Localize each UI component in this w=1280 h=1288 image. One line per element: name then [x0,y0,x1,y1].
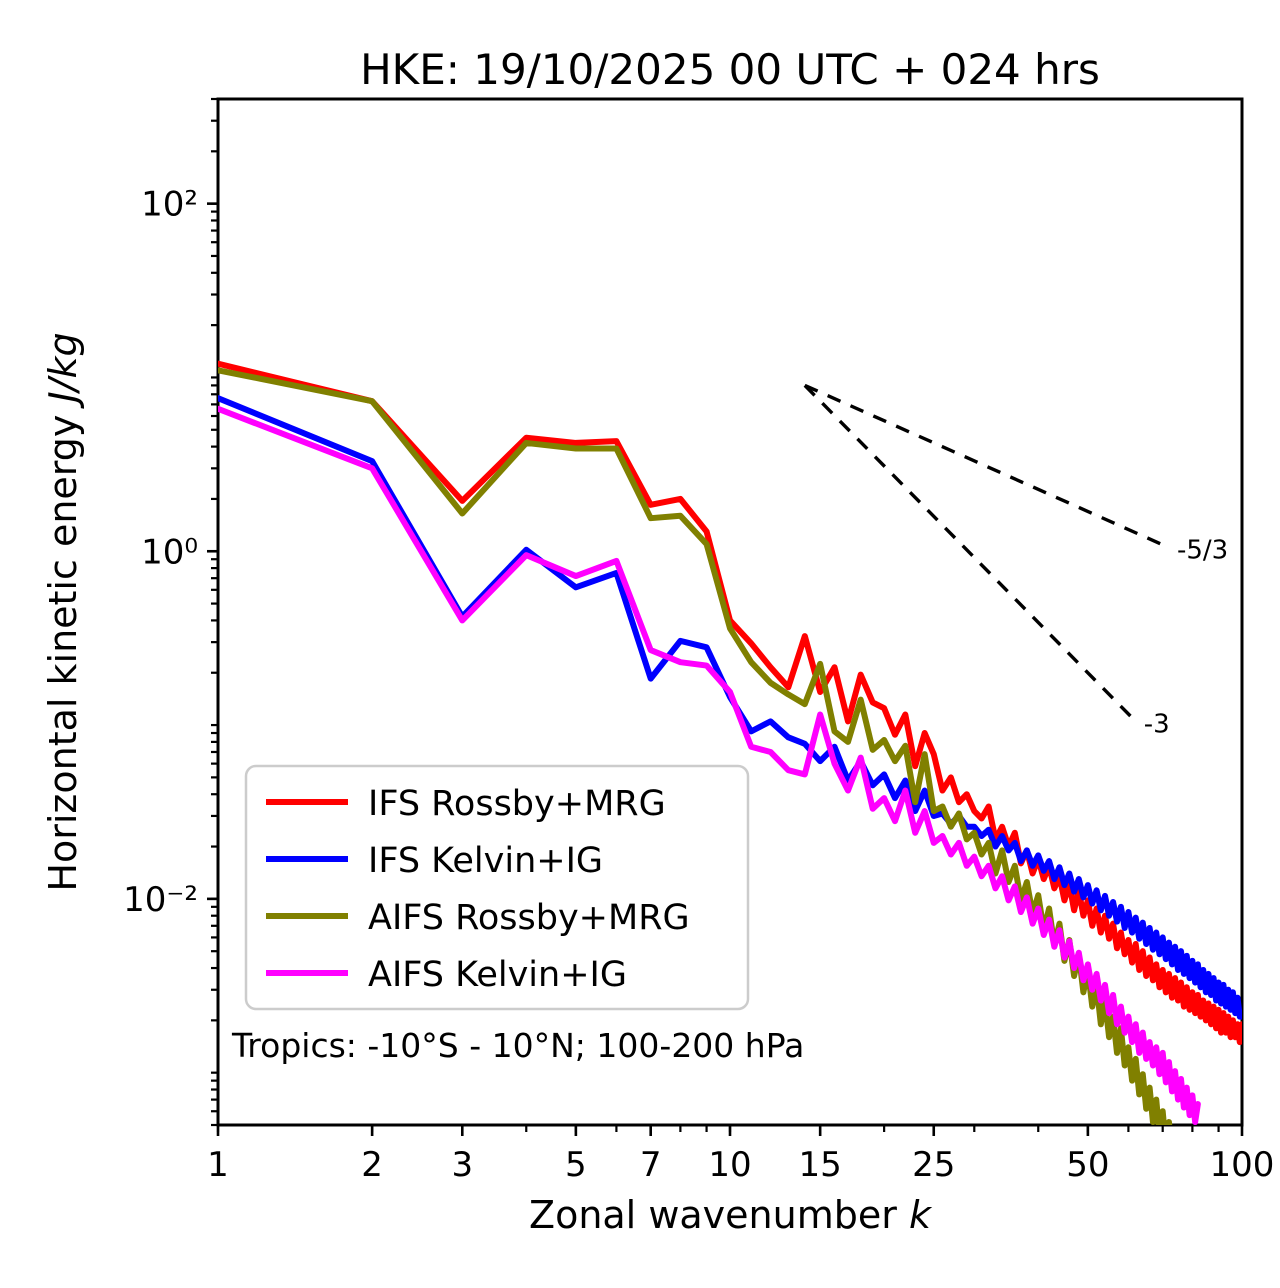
legend-label-1[interactable]: IFS Kelvin+IG [368,841,603,881]
slope-label--3: -3 [1144,709,1170,739]
x-tick-label: 3 [451,1145,473,1185]
chart-title: HKE: 19/10/2025 00 UTC + 024 hrs [360,45,1100,94]
x-tick-label: 2 [361,1145,383,1185]
legend-label-2[interactable]: AIFS Rossby+MRG [368,898,690,938]
y-axis-label: Horizontal kinetic energy J/kg [41,332,85,891]
legend-label-3[interactable]: AIFS Kelvin+IG [368,955,627,995]
x-tick-label: 1 [207,1145,229,1185]
x-tick-label: 7 [640,1145,662,1185]
y-tick-label: 10⁰ [141,532,198,572]
x-tick-label: 10 [708,1145,751,1185]
legend[interactable]: IFS Rossby+MRGIFS Kelvin+IGAIFS Rossby+M… [246,766,748,1009]
x-axis-label: Zonal wavenumber k [529,1193,933,1237]
slope-label--5-3: -5/3 [1177,536,1228,566]
x-tick-label: 100 [1210,1145,1275,1185]
legend-label-0[interactable]: IFS Rossby+MRG [368,784,666,824]
y-tick-label: 10² [141,185,198,225]
x-tick-label: 5 [565,1145,587,1185]
chart-svg: HKE: 19/10/2025 00 UTC + 024 hrs 1235710… [0,0,1280,1288]
x-tick-label: 50 [1066,1145,1109,1185]
chart-figure: HKE: 19/10/2025 00 UTC + 024 hrs 1235710… [0,0,1280,1288]
x-tick-label: 25 [912,1145,955,1185]
x-tick-label: 15 [799,1145,842,1185]
region-annotation: Tropics: -10°S - 10°N; 100-200 hPa [231,1026,804,1065]
y-tick-label: 10⁻² [123,880,198,920]
